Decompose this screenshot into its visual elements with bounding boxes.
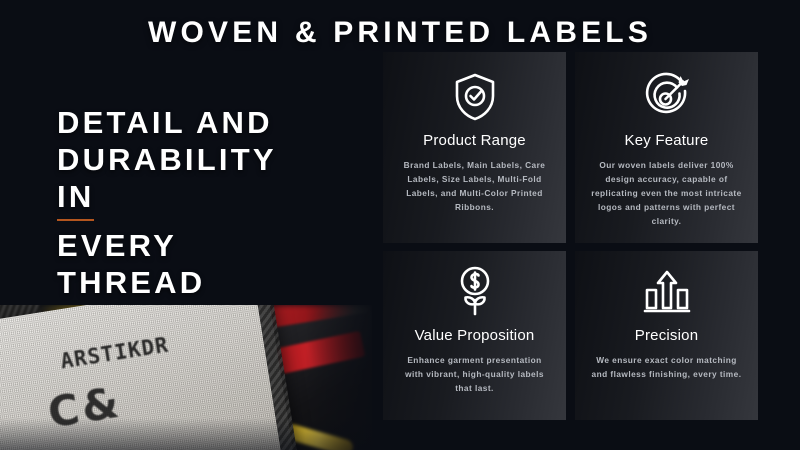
headline-block: DETAIL AND DURABILITY IN EVERY THREAD (57, 104, 357, 301)
page-title: WOVEN & PRINTED LABELS (0, 18, 800, 48)
headline-line-4: EVERY (57, 227, 357, 264)
card-title: Value Proposition (393, 327, 556, 345)
card-title: Precision (585, 327, 748, 345)
woven-label-photo: ARSTIKDR C& (0, 305, 372, 450)
card-body: Brand Labels, Main Labels, Care Labels, … (393, 158, 556, 214)
money-plant-icon (393, 263, 556, 321)
target-arrow-icon (585, 68, 748, 126)
feature-card-value-proposition[interactable]: Value Proposition Enhance garment presen… (383, 251, 566, 420)
slide-canvas: WOVEN & PRINTED LABELS DETAIL AND DURABI… (0, 0, 800, 450)
headline-line-5: THREAD (57, 264, 357, 301)
card-body: Our woven labels deliver 100% design acc… (585, 158, 748, 228)
feature-card-key-feature[interactable]: Key Feature Our woven labels deliver 100… (575, 52, 758, 243)
card-body: Enhance garment presentation with vibran… (393, 353, 556, 395)
headline-line-3: IN (57, 178, 357, 221)
growth-chart-icon (585, 263, 748, 321)
card-title: Product Range (393, 132, 556, 150)
shield-check-icon (393, 68, 556, 126)
feature-card-product-range[interactable]: Product Range Brand Labels, Main Labels,… (383, 52, 566, 243)
headline-underlined-word: IN (57, 178, 94, 221)
headline-line-1: DETAIL AND (57, 104, 357, 141)
feature-card-precision[interactable]: Precision We ensure exact color matching… (575, 251, 758, 420)
headline-line-2: DURABILITY (57, 141, 357, 178)
card-title: Key Feature (585, 132, 748, 150)
photo-vignette (0, 305, 372, 450)
card-body: We ensure exact color matching and flawl… (585, 353, 748, 381)
